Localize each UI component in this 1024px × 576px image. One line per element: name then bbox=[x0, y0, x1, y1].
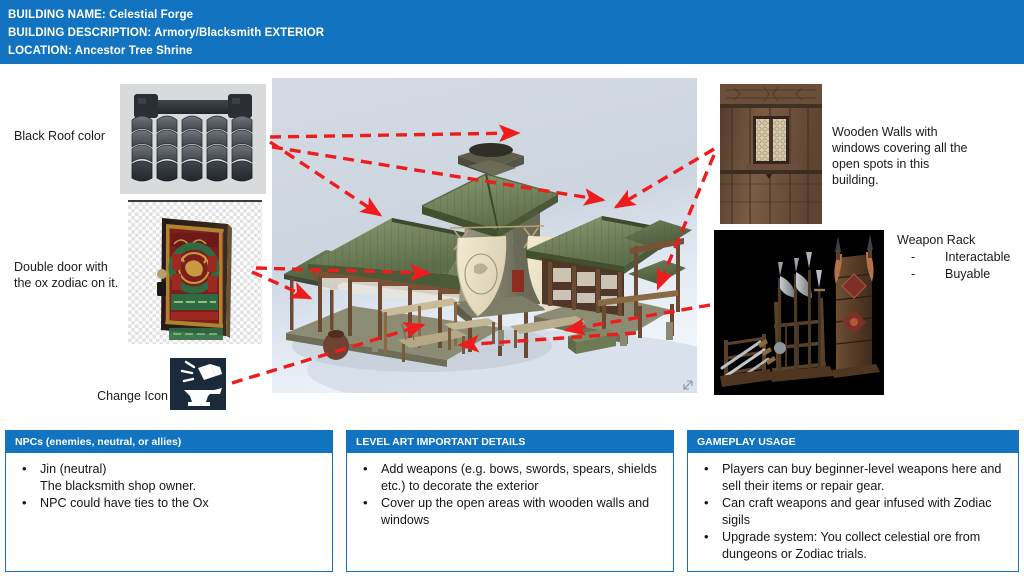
bullet-marker: • bbox=[704, 460, 709, 477]
design-sheet-page: BUILDING NAME: Celestial Forge BUILDING … bbox=[0, 0, 1024, 576]
list-item-text: Cover up the open areas with wooden wall… bbox=[381, 496, 649, 527]
label-double-door: Double door with the ox zodiac on it. bbox=[14, 259, 126, 291]
bullet-marker: • bbox=[22, 494, 27, 511]
panel-level-art-body: • Add weapons (e.g. bows, swords, spears… bbox=[347, 453, 673, 529]
label-weapon-rack: Weapon Rack - Interactable - Buyable bbox=[897, 232, 1023, 283]
panel-level-art-list: • Add weapons (e.g. bows, swords, spears… bbox=[351, 461, 667, 529]
list-item: • Add weapons (e.g. bows, swords, spears… bbox=[351, 461, 667, 495]
bullet-marker: • bbox=[363, 460, 368, 477]
panel-npcs-body: • Jin (neutral) The blacksmith shop owne… bbox=[6, 453, 332, 512]
list-item: • Cover up the open areas with wooden wa… bbox=[351, 495, 667, 529]
ox-zodiac-door-artwork bbox=[128, 202, 262, 344]
label-black-roof-color: Black Roof color bbox=[14, 128, 118, 144]
bullet-marker: • bbox=[704, 528, 709, 545]
list-item: • Players can buy beginner-level weapons… bbox=[692, 461, 1012, 495]
weapon-rack-bullet: - Interactable bbox=[911, 249, 1023, 266]
building-render[interactable] bbox=[272, 78, 697, 393]
list-item-subtext: The blacksmith shop owner. bbox=[40, 478, 326, 495]
weapon-rack-bullet-list: - Interactable - Buyable bbox=[897, 249, 1023, 283]
wooden-wall-thumbnail[interactable] bbox=[720, 84, 822, 224]
list-item: • NPC could have ties to the Ox bbox=[10, 495, 326, 512]
weapon-rack-thumbnail[interactable] bbox=[714, 230, 884, 395]
bullet-marker: • bbox=[22, 460, 27, 477]
bullet-marker: • bbox=[363, 494, 368, 511]
blacksmith-anvil-icon[interactable] bbox=[170, 358, 226, 410]
panel-gameplay-usage-body: • Players can buy beginner-level weapons… bbox=[688, 453, 1018, 563]
hammer-anvil-icon bbox=[170, 358, 226, 410]
resize-handle-icon[interactable] bbox=[683, 380, 693, 390]
weapon-rack-bullet: - Buyable bbox=[911, 266, 1023, 283]
list-item-text: Can craft weapons and gear infused with … bbox=[722, 496, 992, 527]
bullet-marker: • bbox=[704, 494, 709, 511]
panel-npcs-list: • Jin (neutral) The blacksmith shop owne… bbox=[10, 461, 326, 512]
weapon-rack-title: Weapon Rack bbox=[897, 232, 1023, 248]
header-building-description: BUILDING DESCRIPTION: Armory/Blacksmith … bbox=[8, 24, 1024, 42]
building-render-artwork bbox=[272, 78, 697, 393]
roof-tile-artwork bbox=[120, 84, 266, 194]
list-item: • Can craft weapons and gear infused wit… bbox=[692, 495, 1012, 529]
panel-gameplay-usage-header: GAMEPLAY USAGE bbox=[688, 431, 1018, 453]
header-building-name: BUILDING NAME: Celestial Forge bbox=[8, 6, 1024, 24]
weapon-rack-artwork bbox=[714, 230, 884, 395]
panel-level-art: LEVEL ART IMPORTANT DETAILS • Add weapon… bbox=[346, 430, 674, 572]
panel-gameplay-usage: GAMEPLAY USAGE • Players can buy beginne… bbox=[687, 430, 1019, 572]
panel-level-art-header: LEVEL ART IMPORTANT DETAILS bbox=[347, 431, 673, 453]
panel-npcs: NPCs (enemies, neutral, or allies) • Jin… bbox=[5, 430, 333, 572]
wooden-wall-artwork bbox=[720, 84, 822, 224]
list-item-text: NPC could have ties to the Ox bbox=[40, 496, 209, 510]
panel-gameplay-usage-list: • Players can buy beginner-level weapons… bbox=[692, 461, 1012, 563]
ox-zodiac-door-thumbnail[interactable] bbox=[128, 200, 262, 344]
weapon-rack-bullet-text: Interactable bbox=[945, 250, 1010, 264]
header-bar: BUILDING NAME: Celestial Forge BUILDING … bbox=[0, 0, 1024, 64]
list-item-text: Players can buy beginner-level weapons h… bbox=[722, 462, 1001, 493]
roof-tile-thumbnail[interactable] bbox=[120, 84, 266, 194]
dash-marker: - bbox=[911, 266, 915, 283]
label-change-icon: Change Icon bbox=[72, 388, 168, 404]
header-location: LOCATION: Ancestor Tree Shrine bbox=[8, 42, 1024, 60]
label-wooden-walls: Wooden Walls with windows covering all t… bbox=[832, 124, 972, 188]
list-item-text: Upgrade system: You collect celestial or… bbox=[722, 530, 980, 561]
panel-npcs-header: NPCs (enemies, neutral, or allies) bbox=[6, 431, 332, 453]
list-item-text: Jin (neutral) bbox=[40, 462, 107, 476]
list-item: • Jin (neutral) The blacksmith shop owne… bbox=[10, 461, 326, 495]
list-item: • Upgrade system: You collect celestial … bbox=[692, 529, 1012, 563]
weapon-rack-bullet-text: Buyable bbox=[945, 267, 990, 281]
dash-marker: - bbox=[911, 249, 915, 266]
list-item-text: Add weapons (e.g. bows, swords, spears, … bbox=[381, 462, 657, 493]
